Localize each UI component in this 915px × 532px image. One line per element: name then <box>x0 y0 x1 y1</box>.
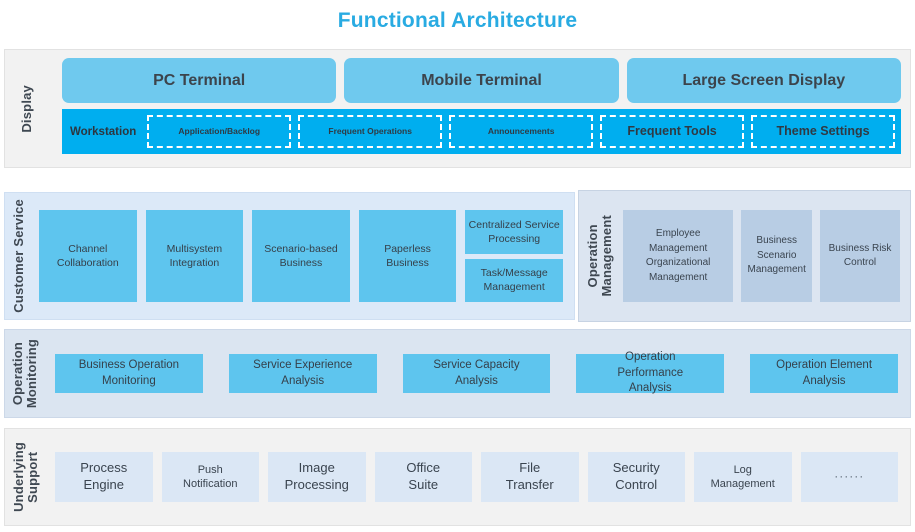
cs-item-task-message-management[interactable]: Task/Message Management <box>465 259 563 303</box>
workstation-item-frequent-operations[interactable]: Frequent Operations <box>298 115 442 148</box>
display-layer-content: PC Terminal Mobile Terminal Large Screen… <box>49 50 910 167</box>
operation-management-content: Employee Management Organizational Manag… <box>621 191 910 321</box>
underlying-support-layer: Underlying Support Process Engine Push N… <box>4 428 911 526</box>
customer-service-content: Channel Collaboration Multisystem Integr… <box>33 193 574 319</box>
underlying-support-layer-label-text: Underlying Support <box>12 442 40 512</box>
display-layer-label: Display <box>5 50 49 167</box>
workstation-row: Workstation Application/Backlog Frequent… <box>62 109 901 154</box>
support-item-security-control[interactable]: Security Control <box>588 452 686 502</box>
underlying-support-content: Process Engine Push Notification Image P… <box>47 429 910 525</box>
workstation-item-application-backlog[interactable]: Application/Backlog <box>147 115 291 148</box>
page-title: Functional Architecture <box>0 9 915 33</box>
workstation-item-announcements[interactable]: Announcements <box>449 115 593 148</box>
terminal-large-screen[interactable]: Large Screen Display <box>627 58 901 103</box>
mon-item-service-experience-analysis[interactable]: Service Experience Analysis <box>229 354 377 393</box>
support-item-process-engine[interactable]: Process Engine <box>55 452 153 502</box>
support-item-office-suite[interactable]: Office Suite <box>375 452 473 502</box>
terminal-pc[interactable]: PC Terminal <box>62 58 336 103</box>
customer-service-layer: Customer Service Channel Collaboration M… <box>4 192 575 320</box>
operation-management-layer: Operation Management Employee Management… <box>578 190 911 322</box>
display-layer-label-text: Display <box>20 85 34 133</box>
support-item-push-notification[interactable]: Push Notification <box>162 452 260 502</box>
operation-management-layer-label-text: Operation Management <box>586 215 614 296</box>
customer-service-layer-label: Customer Service <box>5 193 33 319</box>
om-item-employee-management[interactable]: Employee Management Organizational Manag… <box>623 210 733 302</box>
mon-item-operation-performance-analysis[interactable]: Operation Performance Analysis <box>576 354 724 393</box>
cs-item-channel-collaboration[interactable]: Channel Collaboration <box>39 210 137 302</box>
cs-item-multisystem-integration[interactable]: Multisystem Integration <box>146 210 244 302</box>
cs-item-paperless-business[interactable]: Paperless Business <box>359 210 457 302</box>
terminal-mobile[interactable]: Mobile Terminal <box>344 58 618 103</box>
workstation-label: Workstation <box>70 126 140 138</box>
terminal-row: PC Terminal Mobile Terminal Large Screen… <box>49 50 910 103</box>
functional-architecture-diagram: Functional Architecture Display PC Termi… <box>0 0 915 532</box>
display-layer: Display PC Terminal Mobile Terminal Larg… <box>4 49 911 168</box>
operation-management-layer-label: Operation Management <box>579 191 621 321</box>
customer-service-layer-label-text: Customer Service <box>12 199 26 313</box>
underlying-support-layer-label: Underlying Support <box>5 429 47 525</box>
cs-stacked-group: Centralized Service Processing Task/Mess… <box>465 210 563 302</box>
workstation-item-frequent-tools[interactable]: Frequent Tools <box>600 115 744 148</box>
cs-item-scenario-based-business[interactable]: Scenario-based Business <box>252 210 350 302</box>
workstation-item-theme-settings[interactable]: Theme Settings <box>751 115 895 148</box>
operation-monitoring-layer-label: Operation Monitoring <box>5 330 45 417</box>
cs-item-centralized-service-processing[interactable]: Centralized Service Processing <box>465 210 563 254</box>
om-item-business-scenario-management[interactable]: Business Scenario Management <box>741 210 812 302</box>
operation-monitoring-content: Business Operation Monitoring Service Ex… <box>45 330 910 417</box>
mon-item-business-operation-monitoring[interactable]: Business Operation Monitoring <box>55 354 203 393</box>
mon-item-operation-element-analysis[interactable]: Operation Element Analysis <box>750 354 898 393</box>
operation-monitoring-layer-label-text: Operation Monitoring <box>11 339 39 408</box>
operation-monitoring-layer: Operation Monitoring Business Operation … <box>4 329 911 418</box>
support-item-file-transfer[interactable]: File Transfer <box>481 452 579 502</box>
support-item-more-ellipsis[interactable]: ······ <box>801 452 899 502</box>
support-item-image-processing[interactable]: Image Processing <box>268 452 366 502</box>
mon-item-service-capacity-analysis[interactable]: Service Capacity Analysis <box>403 354 551 393</box>
om-item-business-risk-control[interactable]: Business Risk Control <box>820 210 900 302</box>
support-item-log-management[interactable]: Log Management <box>694 452 792 502</box>
